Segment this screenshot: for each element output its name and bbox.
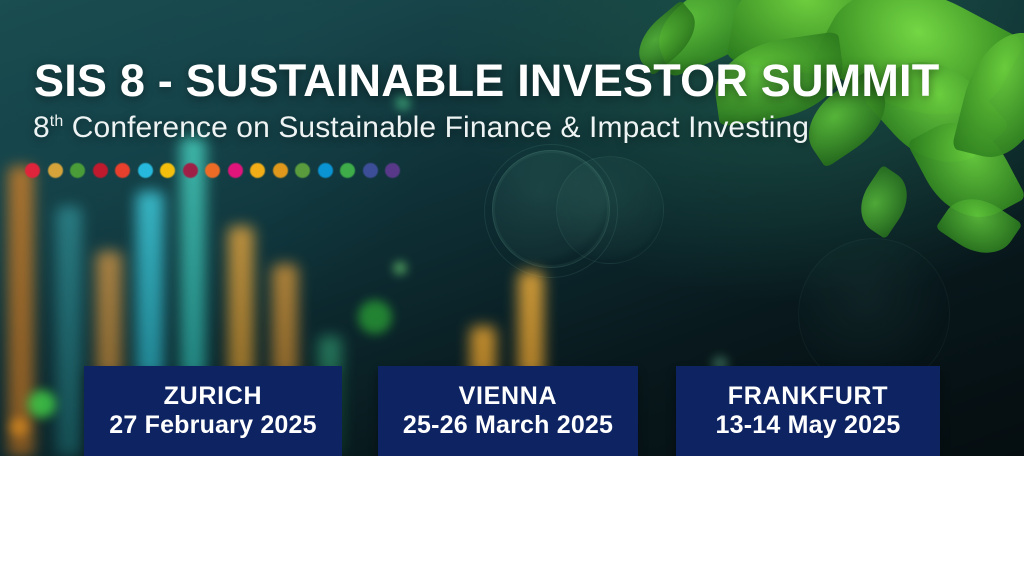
sdg-dot bbox=[228, 163, 243, 178]
footer-bar: www.ic-icf.com IC Institutional Capital … bbox=[0, 456, 1024, 576]
sdg-dot bbox=[183, 163, 198, 178]
event-card-vienna[interactable]: VIENNA 25-26 March 2025 bbox=[378, 366, 638, 456]
sdg-dot bbox=[48, 163, 63, 178]
sdg-dot bbox=[25, 163, 40, 178]
event-banner: SIS 8 - SUSTAINABLE INVESTOR SUMMIT 8th … bbox=[0, 0, 1024, 576]
sdg-dot bbox=[70, 163, 85, 178]
sdg-dot bbox=[138, 163, 153, 178]
banner-title: SIS 8 - SUSTAINABLE INVESTOR SUMMIT bbox=[34, 55, 939, 107]
city-date: 13-14 May 2025 bbox=[716, 411, 901, 441]
subtitle-ordinal: th bbox=[50, 113, 64, 130]
sdg-color-dots bbox=[25, 163, 400, 178]
sdg-dot bbox=[93, 163, 108, 178]
sdg-dot bbox=[250, 163, 265, 178]
sdg-dot bbox=[340, 163, 355, 178]
city-date: 25-26 March 2025 bbox=[403, 411, 613, 441]
city-date: 27 February 2025 bbox=[109, 411, 317, 441]
glow-dot-green-mid bbox=[358, 300, 392, 334]
event-dates-row: ZURICH 27 February 2025 VIENNA 25-26 Mar… bbox=[0, 366, 1024, 462]
glow-dot-green-small bbox=[394, 262, 406, 274]
sdg-dot bbox=[385, 163, 400, 178]
sdg-dot bbox=[295, 163, 310, 178]
event-card-zurich[interactable]: ZURICH 27 February 2025 bbox=[84, 366, 342, 456]
subtitle-text: Conference on Sustainable Finance & Impa… bbox=[63, 111, 809, 144]
city-name: FRANKFURT bbox=[728, 382, 888, 412]
subtitle-number: 8 bbox=[33, 111, 50, 144]
event-card-frankfurt[interactable]: FRANKFURT 13-14 May 2025 bbox=[676, 366, 940, 456]
sdg-dot bbox=[205, 163, 220, 178]
city-name: VIENNA bbox=[459, 382, 558, 412]
sdg-dot bbox=[273, 163, 288, 178]
city-name: ZURICH bbox=[164, 382, 263, 412]
sdg-dot bbox=[160, 163, 175, 178]
sdg-dot bbox=[363, 163, 378, 178]
sdg-dot bbox=[115, 163, 130, 178]
banner-subtitle: 8th Conference on Sustainable Finance & … bbox=[33, 111, 809, 145]
sdg-dot bbox=[318, 163, 333, 178]
